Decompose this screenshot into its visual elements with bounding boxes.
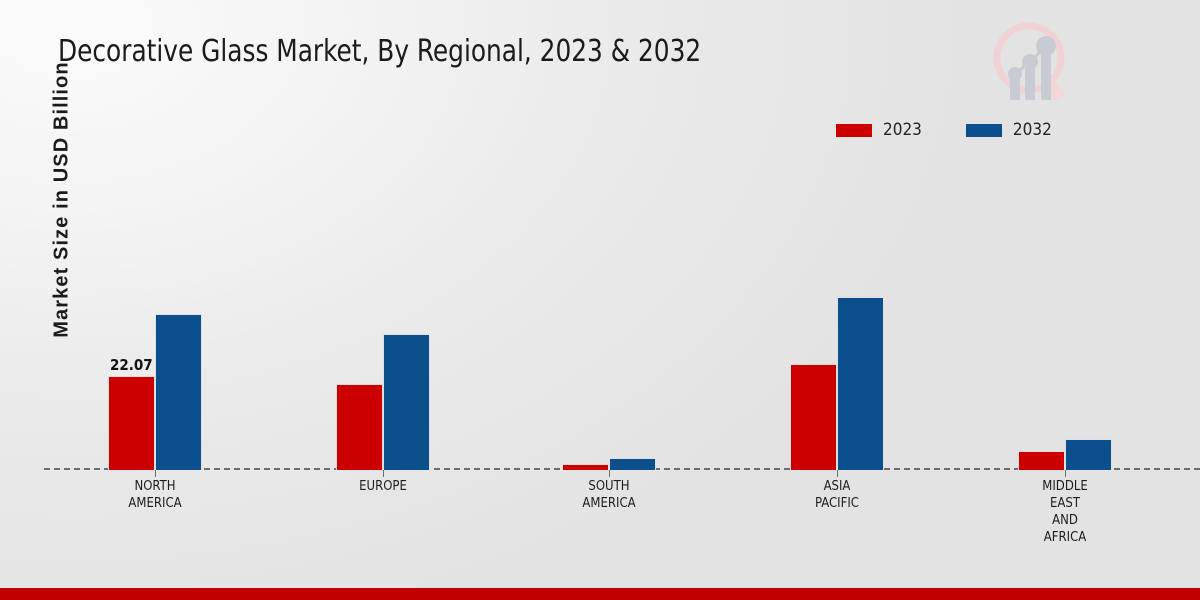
watermark-logo-icon bbox=[985, 16, 1081, 108]
bars-south-america bbox=[562, 160, 656, 470]
category-label-line: AMERICA bbox=[75, 495, 235, 512]
category-label-line: AFRICA bbox=[985, 529, 1145, 546]
category-label-line: PACIFIC bbox=[757, 495, 917, 512]
category-label-line: NORTH bbox=[75, 478, 235, 495]
category-label-middle-east-and-africa: MIDDLE EAST AND AFRICA bbox=[985, 478, 1145, 546]
tick-europe bbox=[383, 470, 384, 477]
bar-south-america-2023[interactable] bbox=[562, 464, 609, 470]
bar-north-america-2023[interactable] bbox=[108, 376, 155, 470]
category-label-line: SOUTH bbox=[529, 478, 689, 495]
legend-swatch-2023 bbox=[836, 124, 872, 137]
category-label-line: ASIA bbox=[757, 478, 917, 495]
tick-south-america bbox=[609, 470, 610, 477]
category-label-line: AND bbox=[985, 512, 1145, 529]
chart-title: Decorative Glass Market, By Regional, 20… bbox=[58, 34, 701, 69]
legend-item-2032[interactable]: 2032 bbox=[966, 120, 1052, 140]
bar-north-america-2032[interactable] bbox=[155, 314, 202, 470]
bar-middle-east-and-africa-2023[interactable] bbox=[1018, 451, 1065, 470]
bar-asia-pacific-2023[interactable] bbox=[790, 364, 837, 470]
category-label-line: EUROPE bbox=[303, 478, 463, 495]
chart-legend: 2023 2032 bbox=[836, 120, 1052, 140]
category-label-south-america: SOUTH AMERICA bbox=[529, 478, 689, 512]
bar-value-north-america-2023: 22.07 bbox=[110, 356, 153, 374]
bar-europe-2032[interactable] bbox=[383, 334, 430, 470]
bars-europe bbox=[336, 160, 430, 470]
tick-asia-pacific bbox=[837, 470, 838, 477]
category-label-line: MIDDLE bbox=[985, 478, 1145, 495]
legend-swatch-2032 bbox=[966, 124, 1002, 137]
legend-item-2023[interactable]: 2023 bbox=[836, 120, 922, 140]
category-label-line: EAST bbox=[985, 495, 1145, 512]
footer-accent-bar bbox=[0, 588, 1200, 600]
bars-asia-pacific bbox=[790, 160, 884, 470]
bar-south-america-2032[interactable] bbox=[609, 458, 656, 470]
bars-middle-east-and-africa bbox=[1018, 160, 1112, 470]
bar-asia-pacific-2032[interactable] bbox=[837, 297, 884, 470]
legend-label-2023: 2023 bbox=[883, 120, 922, 140]
chart-container: Decorative Glass Market, By Regional, 20… bbox=[0, 0, 1200, 600]
bars-north-america bbox=[108, 160, 202, 470]
category-label-europe: EUROPE bbox=[303, 478, 463, 495]
category-label-line: AMERICA bbox=[529, 495, 689, 512]
bar-europe-2023[interactable] bbox=[336, 384, 383, 470]
category-label-asia-pacific: ASIA PACIFIC bbox=[757, 478, 917, 512]
plot-area: 22.07 NORTH AMERICA EUROPE bbox=[44, 160, 1200, 470]
legend-label-2032: 2032 bbox=[1013, 120, 1052, 140]
bar-middle-east-and-africa-2032[interactable] bbox=[1065, 439, 1112, 470]
tick-north-america bbox=[155, 470, 156, 477]
category-label-north-america: NORTH AMERICA bbox=[75, 478, 235, 512]
tick-middle-east-and-africa bbox=[1065, 470, 1066, 477]
